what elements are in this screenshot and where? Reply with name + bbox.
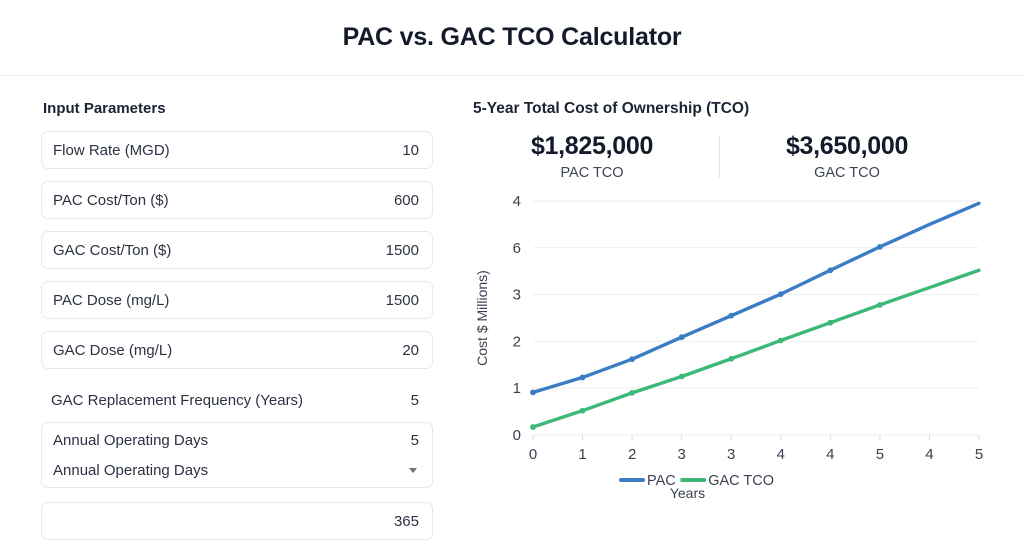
y-tick-label: 2 — [513, 333, 521, 350]
main-content: Input Parameters Flow Rate (MGD) 10 PAC … — [0, 76, 1024, 558]
tco-summary: $1,825,000 PAC TCO $3,650,000 GAC TCO — [471, 132, 1024, 181]
x-axis-title: Years — [471, 485, 1024, 501]
x-tick-label: 2 — [628, 446, 636, 463]
input-parameters-panel: Input Parameters Flow Rate (MGD) 10 PAC … — [0, 100, 448, 558]
field-label: GAC Dose (mg/L) — [53, 342, 402, 359]
data-point — [629, 356, 635, 362]
field-gac-replacement-frequency[interactable]: GAC Replacement Frequency (Years) 5 — [41, 381, 433, 419]
field-value: 20 — [402, 342, 419, 359]
field-value: 5 — [411, 392, 419, 409]
field-value: 365 — [394, 513, 419, 530]
data-point — [629, 389, 635, 395]
field-operating-days-value[interactable]: 365 — [41, 502, 433, 540]
data-point — [728, 312, 734, 318]
field-pac-cost-per-ton[interactable]: PAC Cost/Ton ($) 600 — [41, 181, 433, 219]
field-annual-operating-days-group[interactable]: Annual Operating Days 5 Annual Operating… — [41, 422, 433, 488]
page-title: PAC vs. GAC TCO Calculator — [343, 23, 682, 52]
data-point — [827, 319, 833, 325]
field-label: Flow Rate (MGD) — [53, 142, 402, 159]
data-point — [530, 424, 536, 430]
data-point — [827, 267, 833, 273]
gac-tco-caption: GAC TCO — [744, 165, 950, 181]
stat-divider — [719, 135, 720, 178]
field-value: 10 — [402, 142, 419, 159]
gac-tco-stat: $3,650,000 GAC TCO — [744, 132, 950, 181]
field-value: 600 — [394, 192, 419, 209]
field-label: PAC Cost/Ton ($) — [53, 192, 394, 209]
tco-heading: 5-Year Total Cost of Ownership (TCO) — [473, 100, 1024, 118]
x-tick-label: 3 — [677, 446, 685, 463]
annual-operating-days-select[interactable]: Annual Operating Days — [42, 455, 432, 485]
pac-tco-stat: $1,825,000 PAC TCO — [489, 132, 695, 181]
input-parameters-heading: Input Parameters — [43, 100, 433, 117]
x-tick-label: 1 — [578, 446, 586, 463]
field-gac-cost-per-ton[interactable]: GAC Cost/Ton ($) 1500 — [41, 231, 433, 269]
x-tick-label: 3 — [727, 446, 735, 463]
data-point — [580, 407, 586, 413]
select-label: Annual Operating Days — [53, 462, 409, 479]
y-tick-label: 6 — [513, 239, 521, 256]
tco-panel: 5-Year Total Cost of Ownership (TCO) $1,… — [448, 100, 1024, 558]
data-point — [728, 355, 734, 361]
annual-operating-days-row[interactable]: Annual Operating Days 5 — [42, 425, 432, 455]
data-point — [679, 373, 685, 379]
field-label: GAC Cost/Ton ($) — [53, 242, 386, 259]
field-value: 5 — [411, 432, 419, 449]
field-gac-dose[interactable]: GAC Dose (mg/L) 20 — [41, 331, 433, 369]
data-point — [679, 334, 685, 340]
field-pac-dose[interactable]: PAC Dose (mg/L) 1500 — [41, 281, 433, 319]
pac-tco-amount: $1,825,000 — [489, 132, 695, 162]
y-tick-label: 0 — [513, 427, 521, 444]
field-flow-rate[interactable]: Flow Rate (MGD) 10 — [41, 131, 433, 169]
chart-svg: 4632100123344545Cost $ Millions)PACGAC T… — [471, 187, 1001, 487]
x-tick-label: 4 — [777, 446, 785, 463]
x-tick-label: 4 — [925, 446, 933, 463]
data-point — [877, 243, 883, 249]
data-point — [778, 337, 784, 343]
field-label: GAC Replacement Frequency (Years) — [51, 392, 411, 409]
x-tick-label: 4 — [826, 446, 834, 463]
field-label: PAC Dose (mg/L) — [53, 292, 386, 309]
series-line-gac-tco — [533, 270, 979, 427]
x-tick-label: 0 — [529, 446, 537, 463]
chevron-down-icon[interactable] — [409, 468, 417, 473]
y-tick-label: 4 — [513, 193, 521, 210]
series-line-pac — [533, 203, 979, 392]
x-tick-label: 5 — [876, 446, 884, 463]
app-header: PAC vs. GAC TCO Calculator — [0, 0, 1024, 76]
tco-line-chart: 4632100123344545Cost $ Millions)PACGAC T… — [471, 187, 1024, 487]
x-tick-label: 5 — [975, 446, 983, 463]
data-point — [877, 301, 883, 307]
data-point — [778, 291, 784, 297]
field-value: 1500 — [386, 292, 419, 309]
y-axis-title: Cost $ Millions) — [474, 270, 490, 366]
data-point — [580, 374, 586, 380]
data-point — [530, 389, 536, 395]
y-tick-label: 3 — [513, 286, 521, 303]
gac-tco-amount: $3,650,000 — [744, 132, 950, 162]
field-label: Annual Operating Days — [53, 432, 411, 449]
pac-tco-caption: PAC TCO — [489, 165, 695, 181]
field-value: 1500 — [386, 242, 419, 259]
y-tick-label: 1 — [513, 380, 521, 397]
